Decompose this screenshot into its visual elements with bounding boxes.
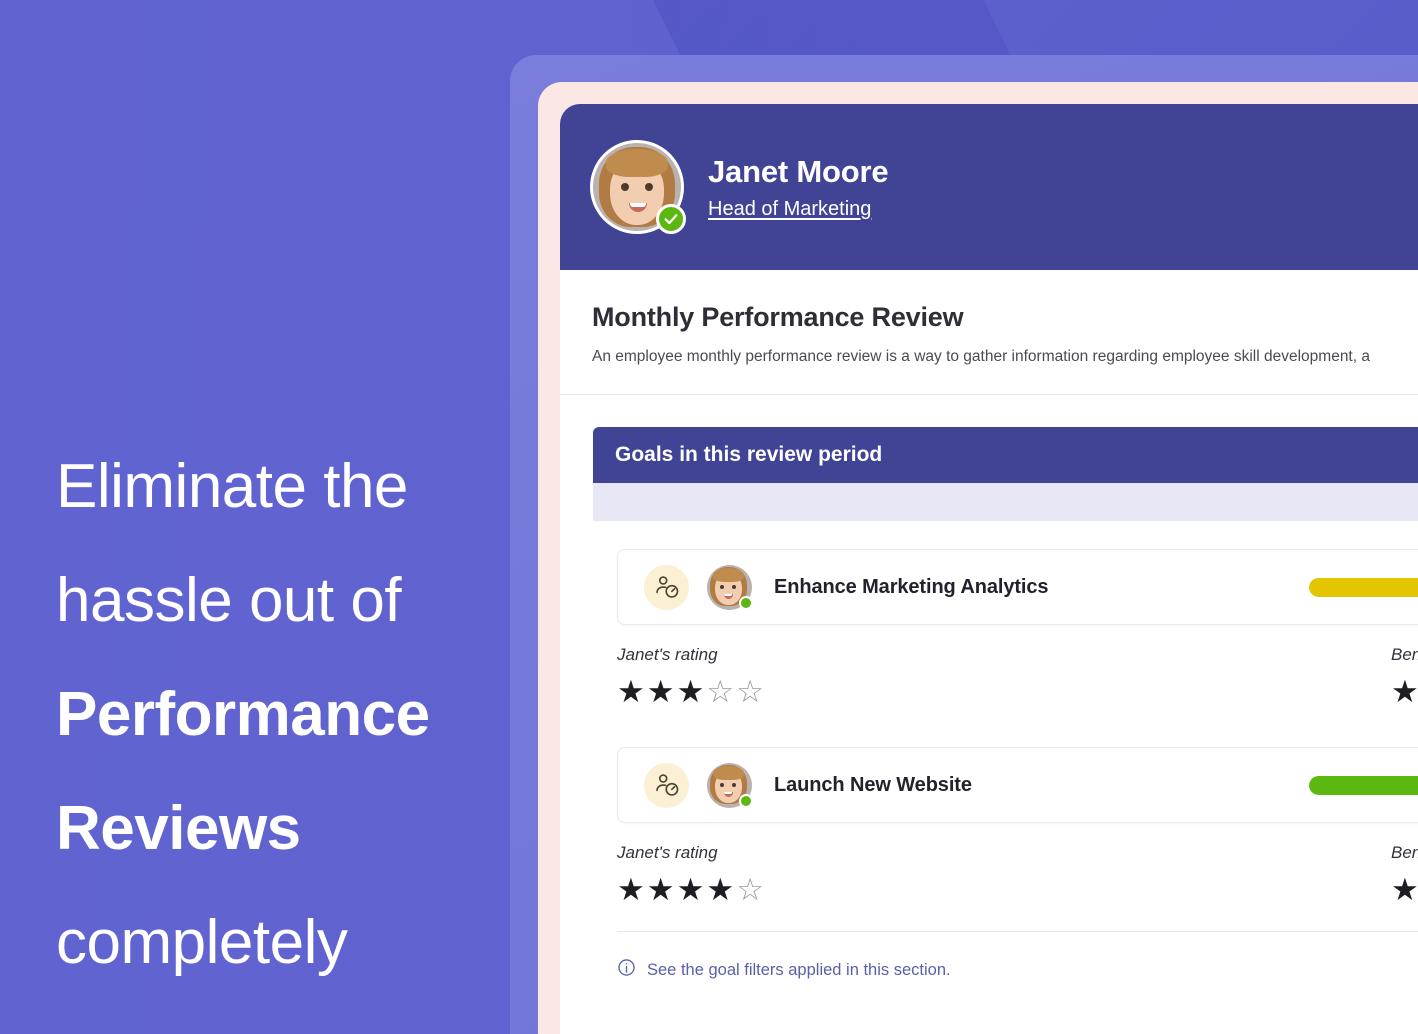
presence-dot-icon xyxy=(739,794,753,808)
self-rating-label: Janet's rating xyxy=(617,843,766,863)
goal-ratings-row: Janet's rating ★★★★☆ Benny's rating ★★★☆… xyxy=(593,823,1418,923)
promo-screenshot: Eliminate the hassle out of Performance … xyxy=(0,0,1418,1034)
star-3[interactable]: ★ xyxy=(677,674,707,709)
self-rating-block: Janet's rating ★★★★☆ xyxy=(617,843,766,905)
star-4[interactable]: ☆ xyxy=(706,674,736,709)
goal-person-gauge-icon xyxy=(644,565,689,610)
peer-rating-block: Benny's rating ★★☆☆☆ xyxy=(1391,645,1418,707)
goals-subbar xyxy=(593,483,1418,521)
goal-person-gauge-icon xyxy=(644,763,689,808)
star-2[interactable]: ★ xyxy=(647,872,677,907)
headline-line: hassle out of xyxy=(56,544,496,658)
headline-line: Reviews xyxy=(56,772,496,886)
self-rating-label: Janet's rating xyxy=(617,645,766,665)
star-5[interactable]: ☆ xyxy=(736,872,766,907)
review-description: An employee monthly performance review i… xyxy=(592,348,1418,366)
info-circle-icon xyxy=(617,958,636,982)
goal-owner-avatar[interactable] xyxy=(707,565,752,610)
headline-line: Eliminate the xyxy=(56,430,496,544)
review-title: Monthly Performance Review xyxy=(592,302,1418,333)
avatar[interactable] xyxy=(590,140,684,234)
review-intro-block: Monthly Performance Review An employee m… xyxy=(560,270,1418,395)
page-title: Janet Moore xyxy=(708,154,888,190)
profile-header: Janet Moore Head of Marketing xyxy=(560,104,1418,270)
goal-progress-bar xyxy=(1309,776,1418,795)
self-rating-stars[interactable]: ★★★★☆ xyxy=(617,874,766,905)
performance-review-app-card: Janet Moore Head of Marketing Monthly Pe… xyxy=(560,104,1418,1034)
headline-line: completely xyxy=(56,886,496,1000)
goal-progress-fill xyxy=(1309,776,1418,795)
peer-rating-stars[interactable]: ★★★☆☆ xyxy=(1391,874,1418,905)
goals-list: Enhance Marketing Analytics Janet's rati… xyxy=(593,521,1418,1008)
star-5[interactable]: ☆ xyxy=(736,674,766,709)
self-rating-stars[interactable]: ★★★☆☆ xyxy=(617,676,766,707)
peer-rating-stars[interactable]: ★★☆☆☆ xyxy=(1391,676,1418,707)
star-2[interactable]: ★ xyxy=(647,674,677,709)
goal-item: Enhance Marketing Analytics Janet's rati… xyxy=(593,549,1418,725)
marketing-headline: Eliminate the hassle out of Performance … xyxy=(56,430,496,1000)
goal-owner-avatar[interactable] xyxy=(707,763,752,808)
goal-title: Launch New Website xyxy=(774,774,972,797)
goal-row[interactable]: Launch New Website xyxy=(617,747,1418,823)
headline-line: Performance xyxy=(56,658,496,772)
star-4[interactable]: ★ xyxy=(706,872,736,907)
goal-progress-bar xyxy=(1309,578,1418,597)
goal-progress-fill xyxy=(1309,578,1418,597)
goal-title: Enhance Marketing Analytics xyxy=(774,576,1048,599)
profile-text-block: Janet Moore Head of Marketing xyxy=(708,154,888,221)
goals-panel-title: Goals in this review period xyxy=(593,427,1418,483)
peer-rating-block: Benny's rating ★★★☆☆ xyxy=(1391,843,1418,905)
peer-rating-label: Benny's rating xyxy=(1391,843,1418,863)
goal-filters-note[interactable]: See the goal filters applied in this sec… xyxy=(593,932,1418,1008)
self-rating-block: Janet's rating ★★★☆☆ xyxy=(617,645,766,707)
star-1[interactable]: ★ xyxy=(617,872,647,907)
star-1[interactable]: ★ xyxy=(617,674,647,709)
goal-row[interactable]: Enhance Marketing Analytics xyxy=(617,549,1418,625)
goals-panel: Goals in this review period xyxy=(593,427,1418,1008)
check-circle-icon xyxy=(656,204,686,234)
goal-ratings-row: Janet's rating ★★★☆☆ Benny's rating ★★☆☆… xyxy=(593,625,1418,725)
star-3[interactable]: ★ xyxy=(677,872,707,907)
star-1[interactable]: ★ xyxy=(1391,872,1418,907)
goal-item: Launch New Website Janet's rating ★★★★☆ … xyxy=(593,747,1418,923)
goal-filters-note-text: See the goal filters applied in this sec… xyxy=(647,961,951,980)
profile-role-link[interactable]: Head of Marketing xyxy=(708,198,888,221)
star-1[interactable]: ★ xyxy=(1391,674,1418,709)
presence-dot-icon xyxy=(739,596,753,610)
peer-rating-label: Benny's rating xyxy=(1391,645,1418,665)
